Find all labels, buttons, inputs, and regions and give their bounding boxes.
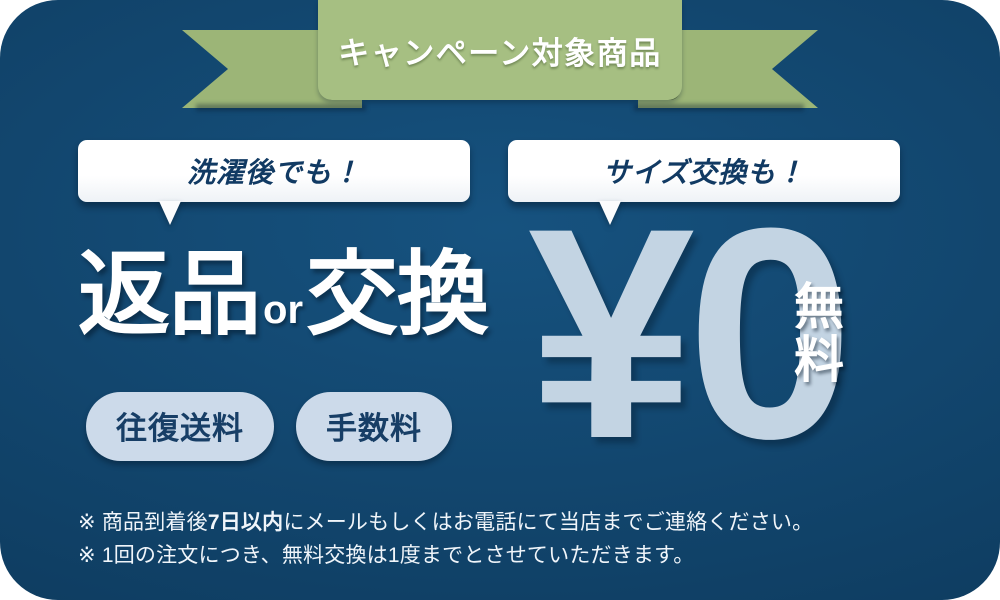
- footnote-1-text-after: にメールもしくはお電話にて当店までご連絡ください。: [283, 511, 813, 534]
- footnote-1-emphasis: 7日以内: [208, 511, 283, 534]
- footnote-1-marker: ※: [78, 511, 96, 534]
- pill-round-trip-shipping: 往復送料: [86, 392, 274, 461]
- footnote-1-text-before: 商品到着後: [96, 511, 208, 534]
- free-label-char-2: 料: [791, 334, 847, 387]
- footnote-2-marker: ※: [78, 544, 96, 567]
- headline: 返品 or 交換: [78, 252, 488, 338]
- price-currency-symbol: ¥: [528, 186, 687, 480]
- headline-exchange: 交換: [306, 252, 488, 338]
- speech-bubble-washing-label: 洗濯後でも！: [187, 151, 361, 191]
- footnotes: ※ 商品到着後7日以内にメールもしくはお電話にて当店までご連絡ください。 ※ 1…: [78, 506, 940, 572]
- ribbon-label: キャンペーン対象商品: [338, 28, 661, 73]
- footnote-2: ※ 1回の注文につき、無料交換は1度までとさせていただきます。: [78, 539, 940, 572]
- footnote-2-text: 1回の注文につき、無料交換は1度までとさせていただきます。: [96, 544, 695, 567]
- free-label-vertical: 無 料: [791, 281, 847, 386]
- benefit-pill-group: 往復送料 手数料: [86, 392, 452, 461]
- promotion-banner: キャンペーン対象商品 洗濯後でも！ サイズ交換も！ 返品 or 交換 ¥0 無 …: [0, 0, 1000, 600]
- ribbon-panel: キャンペーン対象商品: [318, 0, 682, 100]
- ribbon-tail-shadow-left: [196, 104, 366, 111]
- footnote-1: ※ 商品到着後7日以内にメールもしくはお電話にて当店までご連絡ください。: [78, 506, 940, 539]
- headline-connector: or: [260, 290, 306, 338]
- speech-bubble-washing: 洗濯後でも！: [78, 140, 470, 202]
- pill-handling-fee: 手数料: [296, 392, 452, 461]
- free-label-char-1: 無: [791, 281, 847, 334]
- speech-bubble-washing-tail: [159, 201, 181, 225]
- campaign-ribbon: キャンペーン対象商品: [0, 0, 1000, 130]
- headline-return: 返品: [78, 252, 260, 338]
- ribbon-tail-shadow-right: [634, 104, 804, 111]
